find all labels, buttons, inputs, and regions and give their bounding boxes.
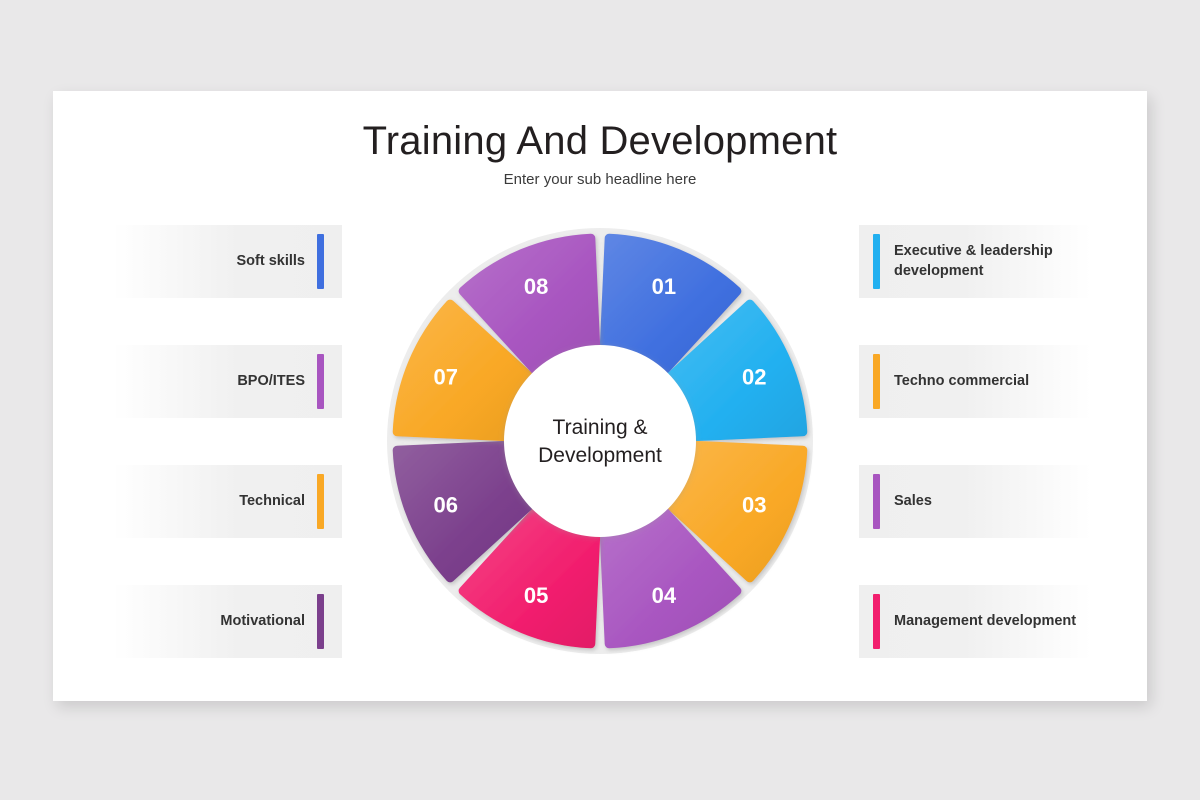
donut-chart: 0102030405060708 Training & Development — [380, 221, 820, 661]
page-subtitle: Enter your sub headline here — [53, 171, 1147, 188]
legend-color-bar — [317, 354, 324, 409]
legend-color-bar — [873, 234, 880, 289]
donut-svg: 0102030405060708 Training & Development — [380, 221, 820, 661]
donut-segment-number: 07 — [433, 365, 457, 390]
legend-item-management-development[interactable]: Management development — [859, 585, 1091, 658]
legend-color-bar — [317, 594, 324, 649]
donut-segment-number: 06 — [433, 492, 457, 517]
donut-segment-number: 01 — [652, 274, 676, 299]
legend-item-techno-commercial[interactable]: Techno commercial — [859, 345, 1091, 418]
legend-label: Techno commercial — [880, 372, 1029, 392]
legend-item-executive-leadership-development[interactable]: Executive & leadership development — [859, 225, 1091, 298]
slide-canvas: Training And Development Enter your sub … — [0, 0, 1200, 800]
legend-color-bar — [873, 474, 880, 529]
legend-item-technical[interactable]: Technical — [113, 465, 342, 538]
legend-color-bar — [873, 354, 880, 409]
slide-surface: Training And Development Enter your sub … — [53, 91, 1147, 701]
legend-item-motivational[interactable]: Motivational — [113, 585, 342, 658]
legend-label: Executive & leadership development — [880, 242, 1091, 281]
donut-segment-number: 03 — [742, 492, 766, 517]
legend-label: Soft skills — [237, 252, 318, 272]
legend-item-sales[interactable]: Sales — [859, 465, 1091, 538]
donut-segment-number: 05 — [524, 583, 548, 608]
legend-item-soft-skills[interactable]: Soft skills — [113, 225, 342, 298]
donut-center-line-1: Training & — [553, 416, 648, 439]
page-title: Training And Development — [53, 119, 1147, 164]
legend-color-bar — [317, 474, 324, 529]
donut-segment-number: 04 — [652, 583, 677, 608]
legend-label: Sales — [880, 492, 932, 512]
donut-segment-number: 08 — [524, 274, 548, 299]
legend-label: Technical — [239, 492, 317, 512]
legend-color-bar — [317, 234, 324, 289]
donut-hub — [504, 345, 696, 537]
donut-center-line-2: Development — [538, 444, 662, 467]
legend-label: BPO/ITES — [237, 372, 317, 392]
donut-segment-number: 02 — [742, 365, 766, 390]
legend-color-bar — [873, 594, 880, 649]
legend-item-bpo-ites[interactable]: BPO/ITES — [113, 345, 342, 418]
legend-label: Management development — [880, 612, 1076, 632]
legend-label: Motivational — [220, 612, 317, 632]
